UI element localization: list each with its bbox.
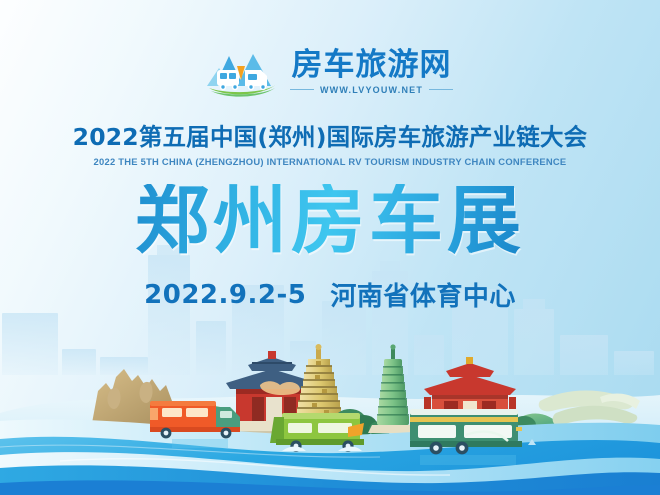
- rv-house-mountain-logo: [207, 44, 281, 100]
- conference-title-chinese: 2022第五届中国(郑州)国际房车旅游产业链大会: [0, 124, 660, 151]
- poster-canvas: 房车旅游网 WWW.LVYOUW.NET 2022第五届中国(郑州)国际房车旅游…: [0, 0, 660, 495]
- logo-wordmark: 房车旅游网: [292, 49, 452, 82]
- conference-title-block: 2022第五届中国(郑州)国际房车旅游产业链大会 2022 THE 5TH CH…: [0, 124, 660, 167]
- event-headline: 郑州房车展: [0, 184, 660, 258]
- rule-right: [429, 89, 453, 90]
- logo-url-row: WWW.LVYOUW.NET: [290, 85, 453, 95]
- conference-title-english: 2022 THE 5TH CHINA (ZHENGZHOU) INTERNATI…: [0, 156, 660, 167]
- rule-left: [290, 89, 314, 90]
- logo-url: WWW.LVYOUW.NET: [320, 85, 423, 95]
- landmark-illustration: [0, 305, 660, 495]
- site-logo[interactable]: 房车旅游网 WWW.LVYOUW.NET: [0, 44, 660, 100]
